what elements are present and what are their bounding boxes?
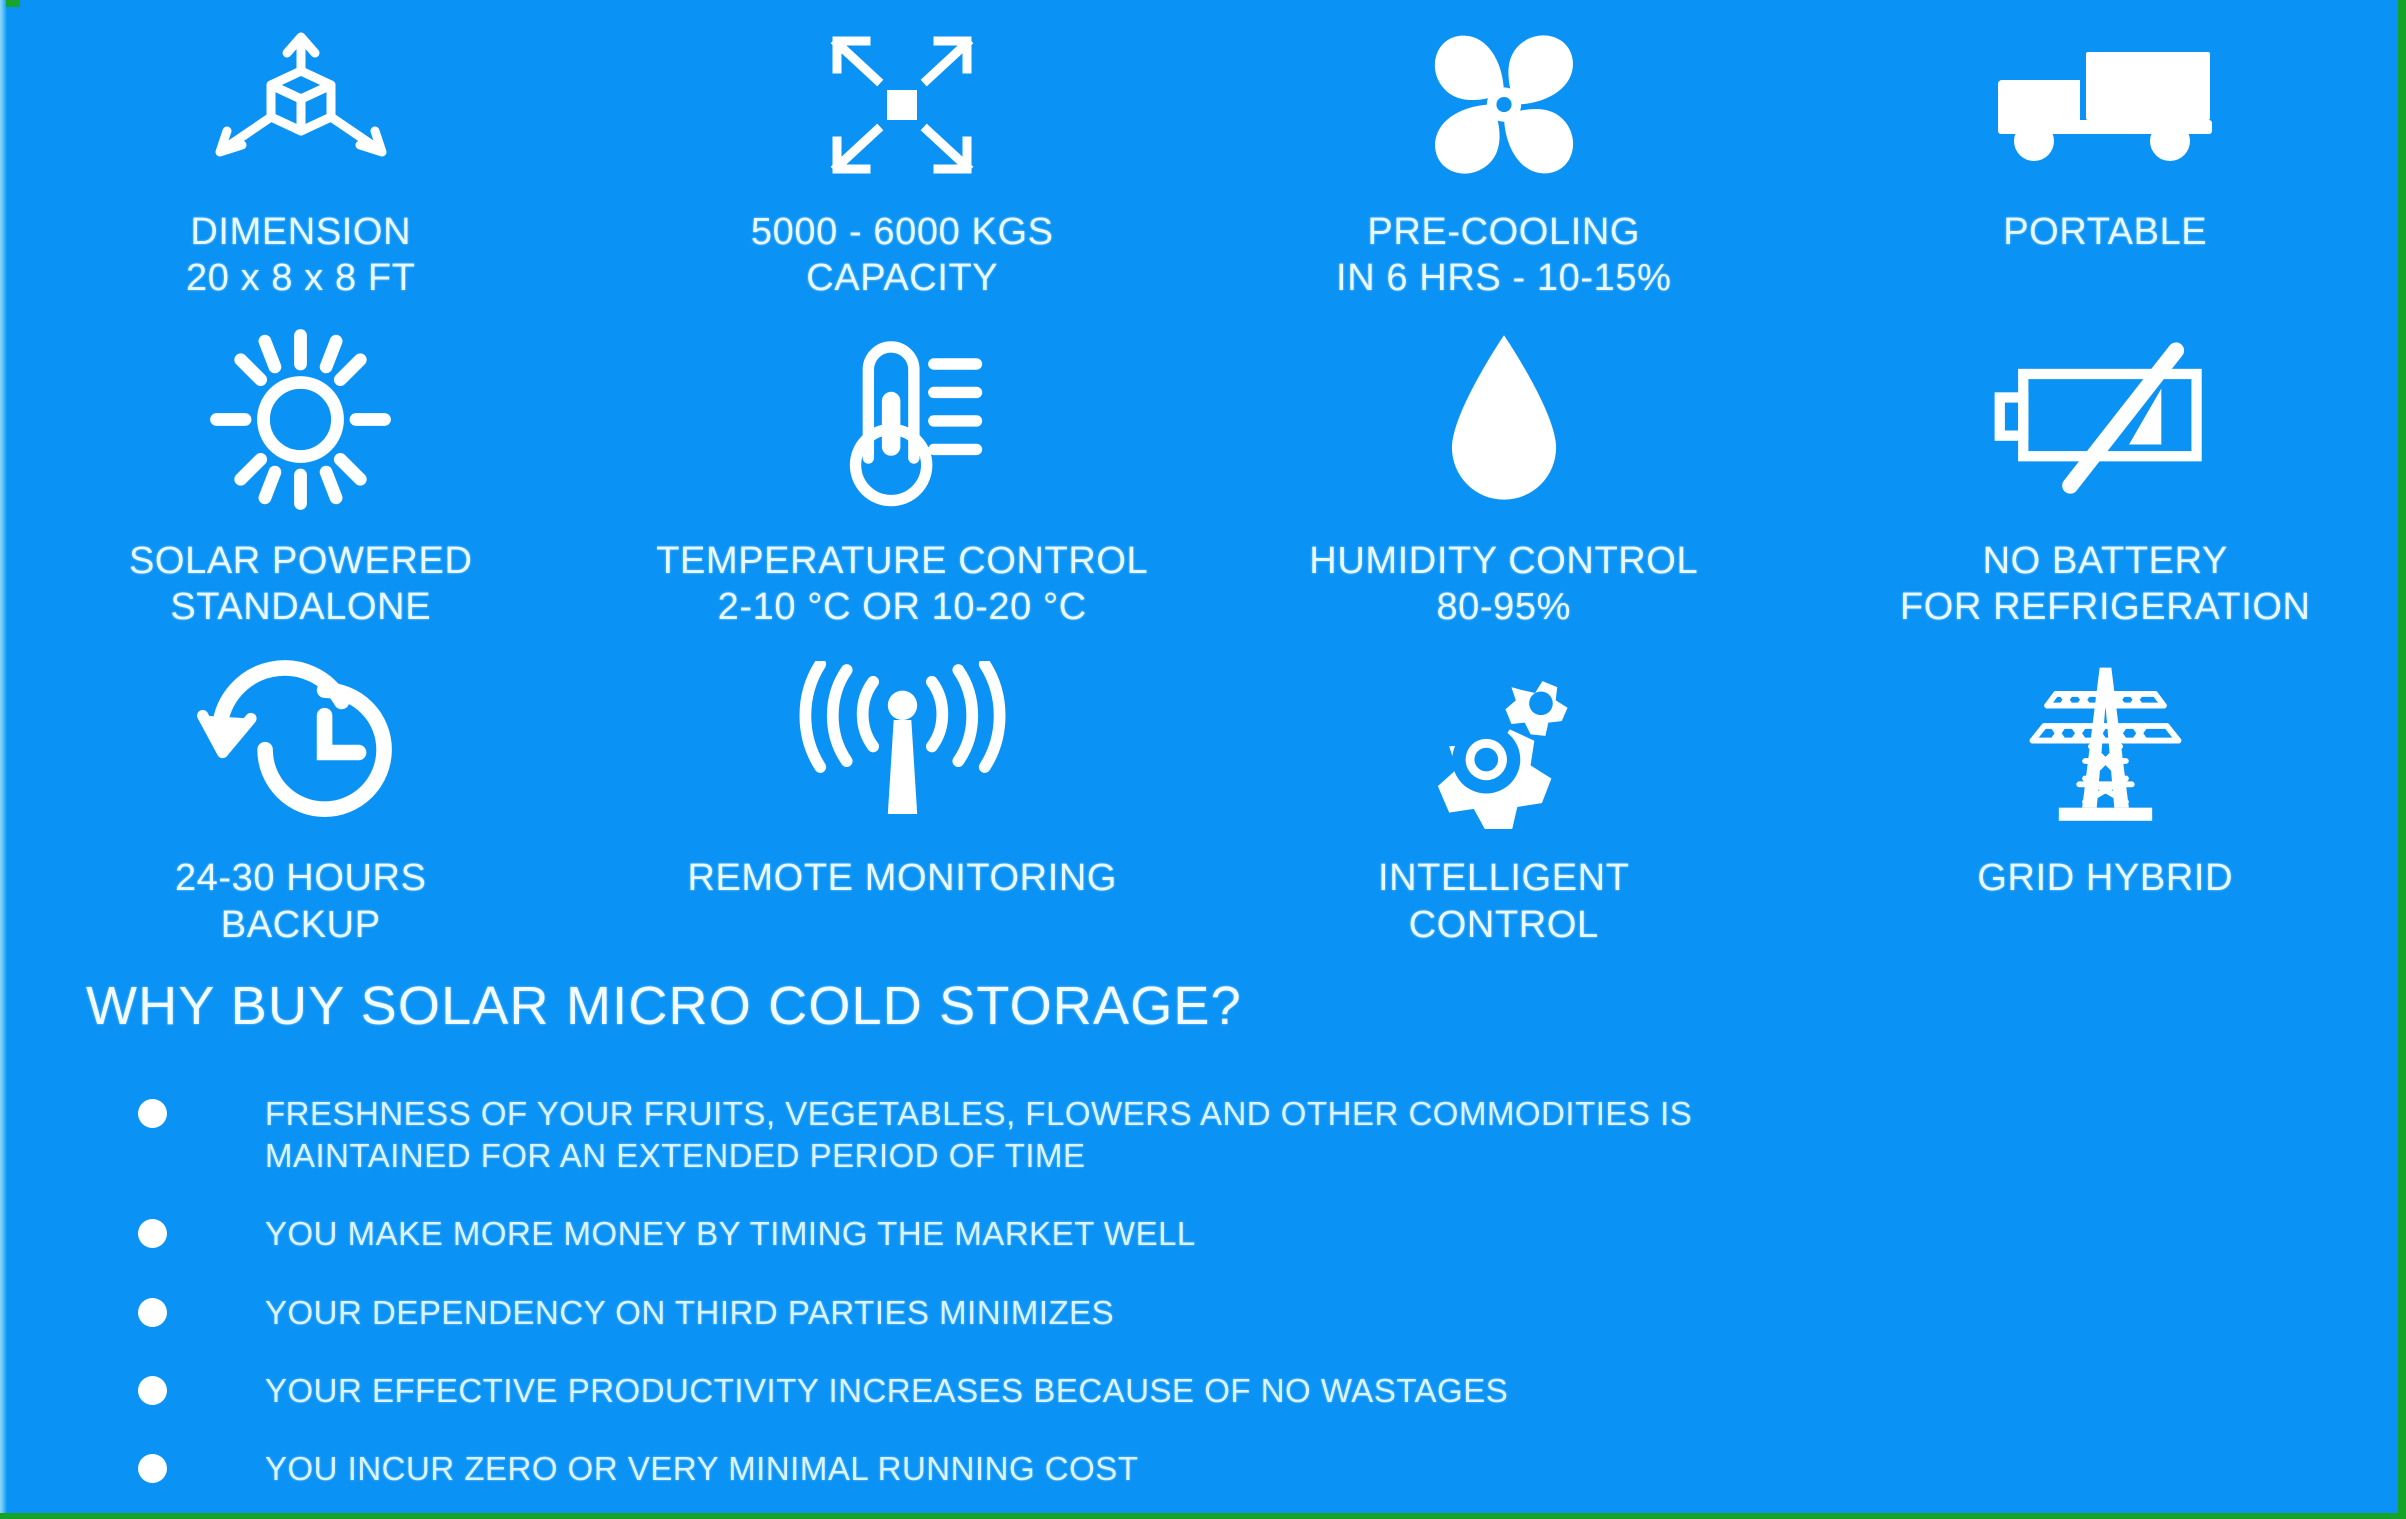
feature-label: 24-30 HOURS BACKUP xyxy=(175,855,427,948)
bottom-edge-green-border xyxy=(0,1513,2406,1519)
capacity-expand-arrows-icon xyxy=(802,22,1002,187)
bullet-dot-icon xyxy=(138,1298,167,1327)
feature-label: PRE-COOLING IN 6 HRS - 10-15% xyxy=(1336,209,1671,302)
list-item: YOU INCUR ZERO OR VERY MINIMAL RUNNING C… xyxy=(86,1448,2320,1490)
left-edge-strip xyxy=(0,0,7,1519)
list-item: FRESHNESS OF YOUR FRUITS, VEGETABLES, FL… xyxy=(86,1093,2320,1177)
feature-cell-solar-powered: SOLAR POWERED STANDALONE xyxy=(0,302,602,631)
bullet-dot-icon xyxy=(138,1376,167,1405)
feature-label: DIMENSION 20 x 8 x 8 FT xyxy=(186,209,416,302)
infographic-page: DIMENSION 20 x 8 x 8 FT xyxy=(0,0,2406,1519)
bullet-dot-icon xyxy=(138,1099,167,1128)
remote-monitoring-antenna-icon xyxy=(785,656,1020,831)
bullet-dot-icon xyxy=(138,1219,167,1248)
portable-truck-icon xyxy=(1990,22,2220,187)
feature-cell-pre-cooling: PRE-COOLING IN 6 HRS - 10-15% xyxy=(1203,8,1805,302)
feature-label: INTELLIGENT CONTROL xyxy=(1378,855,1630,948)
backup-clock-rewind-icon xyxy=(193,656,408,831)
feature-cell-grid-hybrid: GRID HYBRID xyxy=(1805,630,2406,948)
feature-label: NO BATTERY FOR REFRIGERATION xyxy=(1900,538,2311,631)
feature-cell-backup: 24-30 HOURS BACKUP xyxy=(0,630,602,948)
humidity-water-drop-icon xyxy=(1434,330,1574,510)
pre-cooling-fan-icon xyxy=(1414,22,1594,187)
feature-cell-temperature-control: TEMPERATURE CONTROL 2-10 °C OR 10-20 °C xyxy=(602,302,1204,631)
feature-cell-capacity: 5000 - 6000 KGS CAPACITY xyxy=(602,8,1204,302)
feature-label: GRID HYBRID xyxy=(1977,855,2233,901)
benefits-list: FRESHNESS OF YOUR FRUITS, VEGETABLES, FL… xyxy=(86,1093,2320,1490)
feature-label: PORTABLE xyxy=(2003,209,2207,255)
why-buy-section: WHY BUY SOLAR MICRO COLD STORAGE? FRESHN… xyxy=(0,975,2406,1490)
benefit-text: YOU MAKE MORE MONEY BY TIMING THE MARKET… xyxy=(265,1213,1196,1255)
benefit-text: FRESHNESS OF YOUR FRUITS, VEGETABLES, FL… xyxy=(265,1093,1692,1177)
feature-label: SOLAR POWERED STANDALONE xyxy=(129,538,473,631)
benefit-text: YOU INCUR ZERO OR VERY MINIMAL RUNNING C… xyxy=(265,1448,1138,1490)
feature-label: TEMPERATURE CONTROL 2-10 °C OR 10-20 °C xyxy=(656,538,1148,631)
benefit-text: YOUR DEPENDENCY ON THIRD PARTIES MINIMIZ… xyxy=(265,1292,1114,1334)
feature-label: 5000 - 6000 KGS CAPACITY xyxy=(751,209,1054,302)
feature-cell-humidity-control: HUMIDITY CONTROL 80-95% xyxy=(1203,302,1805,631)
feature-label: HUMIDITY CONTROL 80-95% xyxy=(1309,538,1698,631)
feature-cell-portable: PORTABLE xyxy=(1805,8,2406,302)
benefit-text: YOUR EFFECTIVE PRODUCTIVITY INCREASES BE… xyxy=(265,1370,1508,1412)
feature-cell-remote-monitoring: REMOTE MONITORING xyxy=(602,630,1204,948)
grid-hybrid-pylon-icon xyxy=(2018,656,2193,831)
why-buy-heading: WHY BUY SOLAR MICRO COLD STORAGE? xyxy=(86,975,2320,1037)
dimension-3d-axis-icon xyxy=(186,22,416,187)
solar-sun-icon xyxy=(203,330,398,510)
no-battery-icon xyxy=(1988,330,2223,510)
temperature-thermometer-icon xyxy=(815,330,990,510)
list-item: YOUR DEPENDENCY ON THIRD PARTIES MINIMIZ… xyxy=(86,1292,2320,1334)
intelligent-control-gears-icon xyxy=(1404,656,1604,831)
feature-label: REMOTE MONITORING xyxy=(687,855,1117,901)
list-item: YOU MAKE MORE MONEY BY TIMING THE MARKET… xyxy=(86,1213,2320,1255)
feature-grid: DIMENSION 20 x 8 x 8 FT xyxy=(0,8,2406,948)
top-left-green-marker xyxy=(6,0,20,7)
bullet-dot-icon xyxy=(138,1454,167,1483)
list-item: YOUR EFFECTIVE PRODUCTIVITY INCREASES BE… xyxy=(86,1370,2320,1412)
feature-cell-intelligent-control: INTELLIGENT CONTROL xyxy=(1203,630,1805,948)
right-edge-green-border xyxy=(2398,0,2406,1519)
feature-cell-no-battery: NO BATTERY FOR REFRIGERATION xyxy=(1805,302,2406,631)
feature-cell-dimension: DIMENSION 20 x 8 x 8 FT xyxy=(0,8,602,302)
